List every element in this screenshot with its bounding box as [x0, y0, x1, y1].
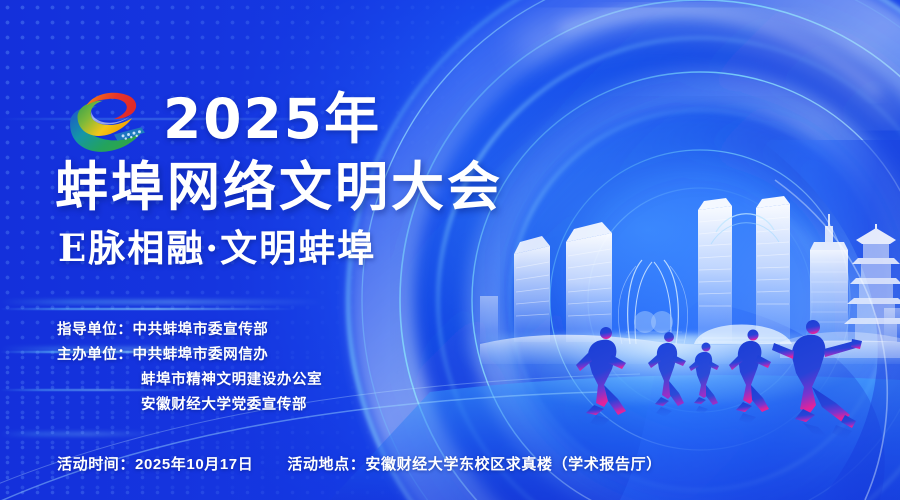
bengbu-e-swirl-logo-icon: [57, 78, 149, 160]
skater-figure: [772, 320, 862, 428]
organizer-value: 安徽财经大学党委宣传部: [141, 397, 307, 413]
runner-figure: [576, 327, 626, 415]
organizer-value: 蚌埠市精神文明建设办公室: [141, 372, 322, 388]
year-heading: 2025年: [163, 92, 381, 147]
organizer-line: 指导单位：中共蚌埠市委宣传部: [57, 318, 322, 343]
event-place: 活动地点：安徽财经大学东校区求真楼（学术报告厅）: [287, 453, 661, 474]
event-time-value: 2025年10月17日: [135, 456, 253, 473]
event-time: 活动时间：2025年10月17日: [57, 453, 253, 474]
organizer-value: 中共蚌埠市委网信办: [133, 347, 269, 363]
organizer-line: 主办单位：中共蚌埠市委网信办: [57, 343, 322, 368]
organizer-label: 指导单位：: [57, 322, 133, 338]
page-subtitle: E脉相融·文明蚌埠: [58, 228, 376, 269]
organizer-value: 中共蚌埠市委宣传部: [133, 322, 269, 338]
event-place-value: 安徽财经大学东校区求真楼（学术报告厅）: [365, 456, 661, 473]
runner-figure: [729, 330, 771, 413]
organizers-block: 指导单位：中共蚌埠市委宣传部 主办单位：中共蚌埠市委网信办 蚌埠市精神文明建设办…: [57, 318, 322, 418]
skater-reflection: [803, 423, 852, 439]
organizer-line: 安徽财经大学党委宣传部: [57, 393, 322, 418]
logo-and-year-row: 2025年: [57, 78, 381, 160]
footer-info: 活动时间：2025年10月17日 活动地点：安徽财经大学东校区求真楼（学术报告厅…: [57, 453, 662, 474]
poster-canvas: 2025年 蚌埠网络文明大会 E脉相融·文明蚌埠 指导单位：中共蚌埠市委宣传部 …: [0, 0, 900, 500]
runner-figure: [689, 343, 719, 406]
organizer-line: 蚌埠市精神文明建设办公室: [57, 368, 322, 393]
event-place-label: 活动地点：: [287, 456, 365, 473]
runner-figure: [648, 332, 686, 406]
organizer-label: 主办单位：: [57, 347, 133, 363]
event-time-label: 活动时间：: [57, 456, 135, 473]
poster-text-content: 2025年 蚌埠网络文明大会 E脉相融·文明蚌埠 指导单位：中共蚌埠市委宣传部 …: [0, 0, 560, 500]
page-title: 蚌埠网络文明大会: [55, 160, 503, 216]
running-figures-silhouettes: [560, 315, 890, 445]
